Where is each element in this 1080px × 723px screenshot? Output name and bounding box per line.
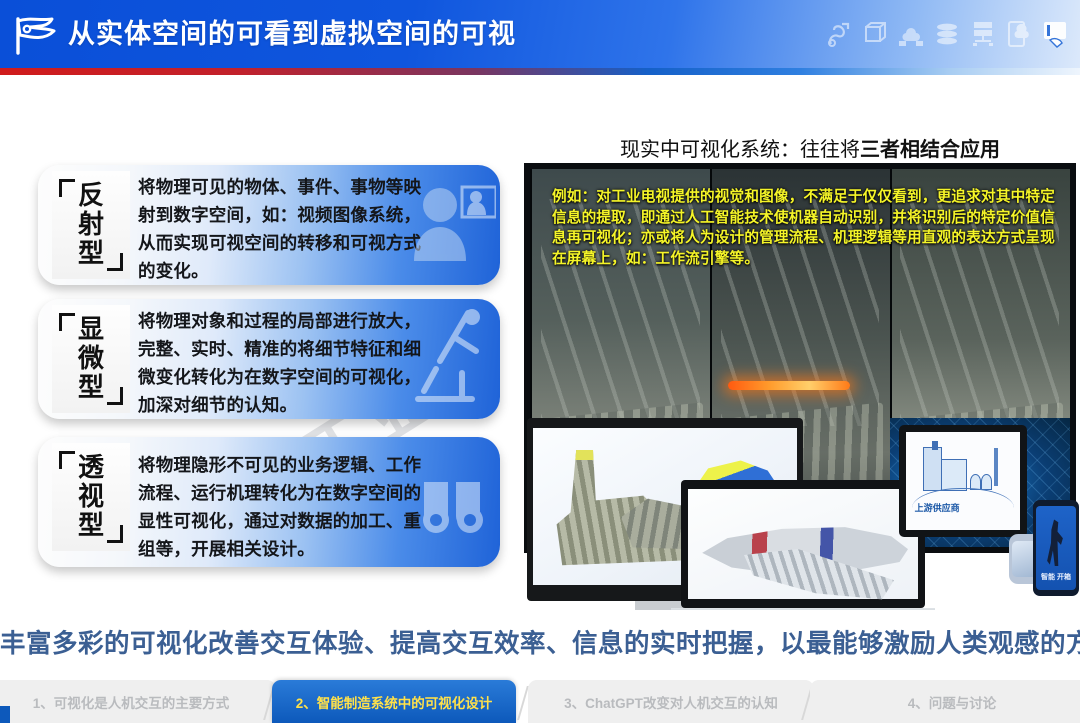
walking-person-icon xyxy=(1046,519,1065,566)
card-text-bold: 隐形不可见 xyxy=(191,455,280,475)
server-rack-icon xyxy=(970,20,996,48)
phone-caption: 智能 开箱 xyxy=(1036,572,1076,582)
cloud-network-icon xyxy=(898,20,924,48)
supply-chain-sketch: 上游供应商 xyxy=(908,439,1018,515)
page-title: 从实体空间的可看到虚拟空间的可视 xyxy=(68,12,516,56)
corner-bracket-icon: 显微型 xyxy=(59,313,123,405)
slide-body: 023工业 反射型 将物理可见的物体、事件、事物等映射到数字空间，如：视频图像系… xyxy=(0,75,1080,723)
flag-logo-icon xyxy=(8,15,60,55)
slide-tagline: 丰富多彩的可视化改善交互体验、提高交互效率、信息的实时把握，以最能够激励人类观感… xyxy=(0,623,1080,660)
section-navigation: 1、可视化是人机交互的主要方式 2、智能制造系统中的可视化设计 3、ChatGP… xyxy=(0,680,1080,723)
microscope-icon xyxy=(410,299,496,419)
card-text-bold-2: 显性可视化 xyxy=(138,511,227,531)
tablet-device: 上游供应商 xyxy=(899,425,1027,537)
database-stack-icon xyxy=(934,20,960,48)
card-text-bold: 加深对细节的认知。 xyxy=(138,395,297,415)
header-icon-group xyxy=(826,20,1068,48)
mobile-cloud-icon xyxy=(1006,20,1032,48)
laptop-device xyxy=(681,480,925,610)
binoculars-icon xyxy=(410,437,496,567)
card-label-badge: 显微型 xyxy=(52,305,130,413)
robot-arm-icon xyxy=(826,20,852,48)
nav-left-accent xyxy=(0,706,10,723)
card-description: 将物理对象和过程的局部进行放大，完整、实时、精准的将细节特征和细微变化转化为在数… xyxy=(138,307,422,419)
card-description: 将物理可见的物体、事件、事物等映射到数字空间，如：视频图像系统，从而实现可视空间… xyxy=(138,173,422,285)
card-label-text: 显微型 xyxy=(71,315,111,402)
nav-tab-3[interactable]: 3、ChatGPT改变对人机交互的认知 xyxy=(528,680,814,723)
touch-screen-icon xyxy=(1042,20,1068,48)
nav-tab-4[interactable]: 4、问题与讨论 xyxy=(810,680,1080,723)
visualization-devices-photo: 例如：对工业电视提供的视觉和图像，不满足于仅仅看到，更追求对其中特定信息的提取，… xyxy=(521,155,1079,610)
card-label-badge: 透视型 xyxy=(52,443,130,551)
nav-tab-2[interactable]: 2、智能制造系统中的可视化设计 xyxy=(272,680,516,723)
card-description: 将物理隐形不可见的业务逻辑、工作流程、运行机理转化为在数字空间的显性可视化，通过… xyxy=(138,451,422,563)
corner-bracket-icon: 反射型 xyxy=(59,179,123,271)
card-label-text: 透视型 xyxy=(71,453,111,540)
slide-header: 从实体空间的可看到虚拟空间的可视 xyxy=(0,0,1080,68)
wireframe-cube-icon xyxy=(862,20,888,48)
sketch-label: 上游供应商 xyxy=(915,501,960,514)
card-text-plain: 将物理对象和过程的局部进行放大，完整、实时、精准的将细节特征和细微变化转化为在数… xyxy=(138,311,421,387)
concept-card-perspective[interactable]: 透视型 将物理隐形不可见的业务逻辑、工作流程、运行机理转化为在数字空间的显性可视… xyxy=(38,437,500,567)
concept-card-reflective[interactable]: 反射型 将物理可见的物体、事件、事物等映射到数字空间，如：视频图像系统，从而实现… xyxy=(38,165,500,285)
nav-tab-1[interactable]: 1、可视化是人机交互的主要方式 xyxy=(0,680,276,723)
person-video-conference-icon xyxy=(410,165,496,285)
concept-card-microscopic[interactable]: 显微型 将物理对象和过程的局部进行放大，完整、实时、精准的将细节特征和细微变化转… xyxy=(38,299,500,419)
card-text-plain: 将物理 xyxy=(138,455,191,475)
card-label-badge: 反射型 xyxy=(52,171,130,279)
header-accent-strip xyxy=(0,68,1080,75)
screen-overlay-text: 例如：对工业电视提供的视觉和图像，不满足于仅仅看到，更追求对其中特定信息的提取，… xyxy=(552,187,1068,269)
corner-bracket-icon: 透视型 xyxy=(59,451,123,543)
smartphone-device: 智能 开箱 xyxy=(1033,500,1079,596)
card-label-text: 反射型 xyxy=(71,181,111,268)
